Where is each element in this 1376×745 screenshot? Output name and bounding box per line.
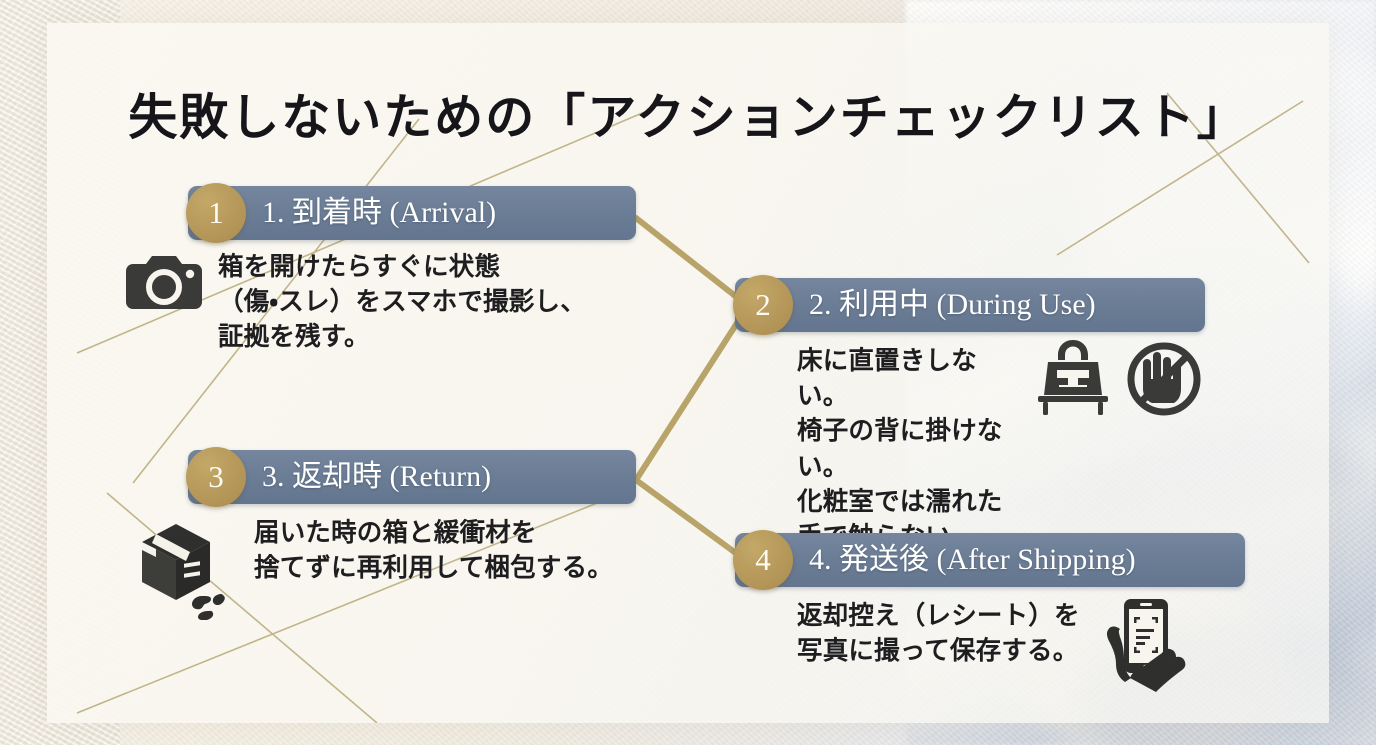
step-1-body: 箱を開けたらすぐに状態 （傷・スレ）をスマホで撮影し、 証拠を残す。 xyxy=(126,250,586,356)
step-1: 1 1. 到着時 (Arrival) 箱を開けたらすぐに状態 （傷・スレ）をスマ… xyxy=(188,186,636,240)
step-3: 3 3. 返却時 (Return) xyxy=(188,450,636,504)
step-2-body: 床に直置きしない。 椅子の背に掛けない。 化粧室では濡れた手で触らない。 xyxy=(797,344,1205,555)
step-4-body-text: 返却控え（レシート）を 写真に撮って保存する。 xyxy=(797,599,1080,669)
step-2: 2 2. 利用中 (During Use) 床に直置きしない。 椅子の背に掛けな… xyxy=(735,278,1205,332)
camera-icon xyxy=(126,250,202,316)
step-1-number-badge: 1 xyxy=(186,183,246,243)
slide-canvas: 失敗しないための「アクションチェックリスト」 1 1. 到着時 (Arrival… xyxy=(0,0,1376,745)
step-1-heading: 1. 到着時 (Arrival) xyxy=(262,198,496,228)
step-2-header-bar[interactable]: 2 2. 利用中 (During Use) xyxy=(735,278,1205,332)
step-3-number-badge: 3 xyxy=(186,447,246,507)
step-4-body: 返却控え（レシート）を 写真に撮って保存する。 xyxy=(797,599,1202,695)
step-3-body-text: 届いた時の箱と緩衝材を 捨てずに再利用して梱包する。 xyxy=(254,516,613,586)
step-1-body-text: 箱を開けたらすぐに状態 （傷・スレ）をスマホで撮影し、 証拠を残す。 xyxy=(218,250,586,356)
package-box-icon xyxy=(132,516,240,620)
step-3-header-bar[interactable]: 3 3. 返却時 (Return) xyxy=(188,450,636,504)
step-2-number-badge: 2 xyxy=(733,275,793,335)
phone-receipt-scan-icon xyxy=(1090,595,1202,695)
step-4: 4 4. 発送後 (After Shipping) 返却控え（レシート）を 写真… xyxy=(735,533,1245,587)
step-4-heading: 4. 発送後 (After Shipping) xyxy=(809,545,1136,575)
no-touch-hand-icon xyxy=(1123,338,1205,420)
step-3-heading: 3. 返却時 (Return) xyxy=(262,462,491,492)
step-3-body: 届いた時の箱と緩衝材を 捨てずに再利用して梱包する。 xyxy=(132,516,613,620)
step-2-body-text: 床に直置きしない。 椅子の背に掛けない。 化粧室では濡れた手で触らない。 xyxy=(797,344,1023,555)
step-4-number-badge: 4 xyxy=(733,530,793,590)
handbag-on-stand-icon xyxy=(1031,336,1115,416)
step-4-header-bar[interactable]: 4 4. 発送後 (After Shipping) xyxy=(735,533,1245,587)
step-1-header-bar[interactable]: 1 1. 到着時 (Arrival) xyxy=(188,186,636,240)
page-title: 失敗しないための「アクションチェックリスト」 xyxy=(0,78,1376,149)
step-2-heading: 2. 利用中 (During Use) xyxy=(809,290,1096,320)
